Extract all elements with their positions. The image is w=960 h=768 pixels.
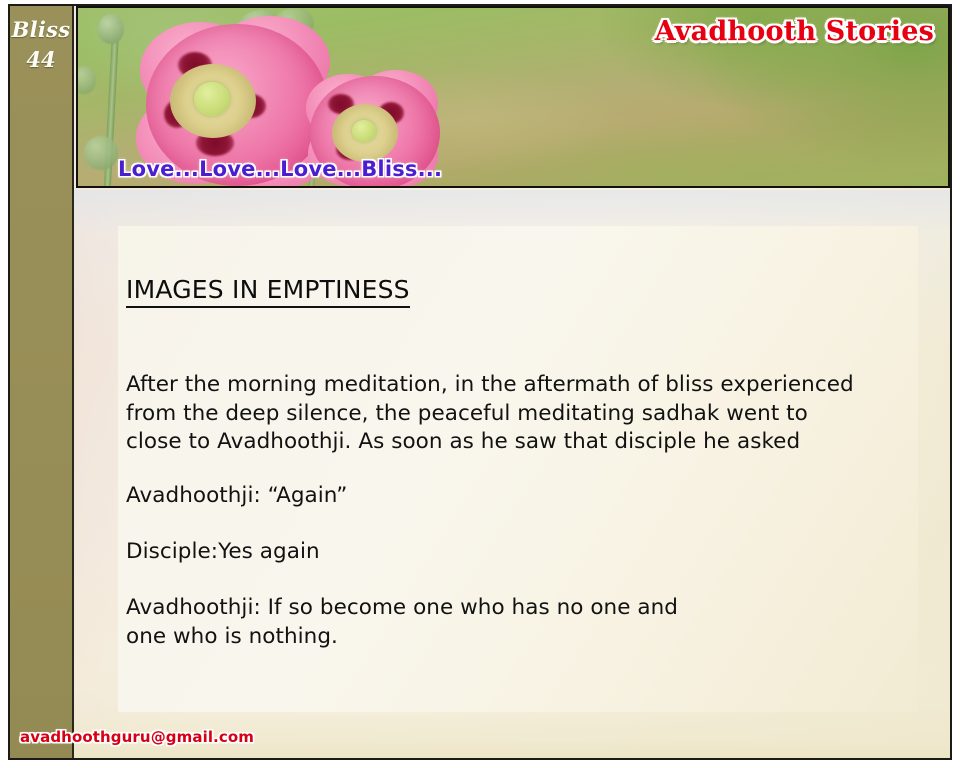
body-paragraph-disciple-reply: Disciple:Yes again	[126, 538, 320, 567]
left-sidebar: Bliss 44	[10, 6, 74, 758]
body-paragraph-avadhoothji-answer: Avadhoothji: If so become one who has no…	[126, 594, 826, 651]
banner-title: Avadhooth Stories	[655, 16, 934, 47]
page-title: IMAGES IN EMPTINESS	[126, 276, 410, 308]
body-paragraph-intro: After the morning meditation, in the aft…	[126, 371, 926, 457]
slide-root: Bliss 44	[0, 0, 960, 768]
banner-caption: Love...Love...Love...Bliss...	[118, 157, 442, 181]
sidebar-slide-number: 44	[10, 47, 72, 72]
sidebar-series-title: Bliss	[10, 17, 72, 42]
body-paragraph-avadhoothji-again: Avadhoothji: “Again”	[126, 482, 347, 511]
header-banner: Avadhooth Stories Love...Love...Love...B…	[76, 6, 950, 188]
footer-email-address: avadhoothguru@gmail.com	[20, 728, 254, 746]
